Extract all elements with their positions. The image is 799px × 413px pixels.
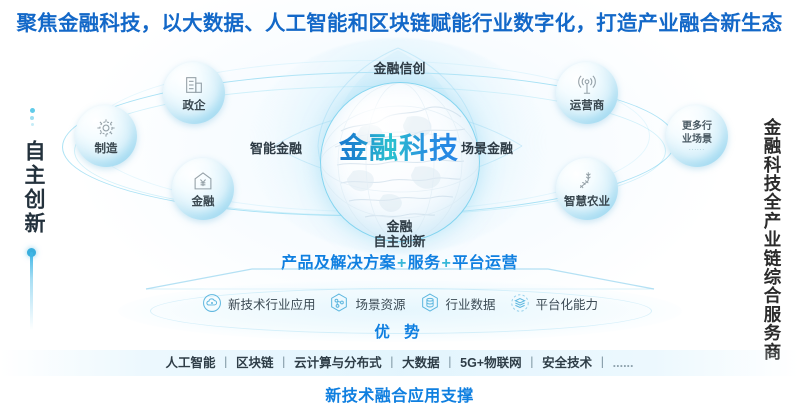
- bank-yen-icon: [192, 170, 214, 192]
- tech-separator: 丨: [216, 356, 237, 370]
- core-label-bottom: 金融 自主创新: [0, 219, 799, 249]
- node-label: 金融: [192, 193, 215, 209]
- node-label: 制造: [95, 140, 118, 156]
- core-label-top: 金融信创: [0, 58, 799, 77]
- feature-item[interactable]: 场景资源: [328, 292, 405, 314]
- feature-label: 行业数据: [446, 294, 496, 313]
- node-label: 智慧农业: [564, 193, 610, 209]
- node-label-line2: 业场景: [682, 134, 712, 146]
- tech-item: 区块链: [236, 356, 274, 370]
- left-decor-dots: [26, 108, 38, 134]
- tech-item: 人工智能: [166, 356, 216, 370]
- wheat-icon: [576, 170, 598, 192]
- signal-tower-icon: [576, 74, 598, 96]
- node-zhengqi[interactable]: 政企: [163, 62, 225, 124]
- core-title: 金融科技: [320, 125, 478, 167]
- tech-list: 人工智能丨区块链丨云计算与分布式丨大数据丨5G+物联网丨安全技术丨......: [0, 352, 799, 371]
- feature-label: 新技术行业应用: [228, 294, 316, 313]
- feature-item[interactable]: 平台化能力: [509, 292, 599, 314]
- node-more-scenarios[interactable]: 更多行 业场景 ......: [666, 105, 728, 167]
- cloud-circle-icon: [201, 292, 223, 314]
- feature-item[interactable]: 新技术行业应用: [201, 292, 316, 314]
- tech-separator: 丨: [592, 356, 613, 370]
- tech-item: 大数据: [402, 356, 440, 370]
- gear-icon: [95, 117, 117, 139]
- feature-label: 平台化能力: [536, 294, 599, 313]
- feature-row: 新技术行业应用 场景资源 行业数据: [0, 292, 799, 314]
- node-label: 运营商: [570, 97, 605, 113]
- feature-item[interactable]: 行业数据: [419, 292, 496, 314]
- core-label-right: 场景金融: [461, 138, 513, 157]
- node-jinrong[interactable]: 金融: [172, 158, 234, 220]
- core-label-bottom-line1: 金融: [386, 219, 412, 234]
- layers-stack-icon: [509, 292, 531, 314]
- core-label-bottom-line2: 自主创新: [373, 234, 425, 249]
- bottom-heading: 新技术融合应用支撑: [0, 382, 799, 406]
- tech-separator: 丨: [382, 356, 403, 370]
- tech-separator: 丨: [522, 356, 543, 370]
- node-label-line1: 更多行: [682, 121, 712, 133]
- tech-list-tail: ......: [613, 356, 634, 370]
- feature-label: 场景资源: [355, 294, 405, 313]
- node-yunying[interactable]: 运营商: [556, 62, 618, 124]
- tech-separator: 丨: [274, 356, 295, 370]
- node-zhizao[interactable]: 制造: [75, 105, 137, 167]
- tech-item: 云计算与分布式: [294, 356, 382, 370]
- infographic-canvas: 聚焦金融科技，以大数据、人工智能和区块链赋能行业数字化，打造产业融合新生态 自主…: [0, 0, 799, 413]
- core-label-left: 智能金融: [250, 138, 302, 157]
- tech-item: 5G+物联网: [460, 356, 521, 370]
- molecule-hexagon-icon: [328, 292, 350, 314]
- tech-item: 安全技术: [542, 356, 592, 370]
- node-nongye[interactable]: 智慧农业: [556, 158, 618, 220]
- tech-separator: 丨: [440, 356, 461, 370]
- page-title: 聚焦金融科技，以大数据、人工智能和区块链赋能行业数字化，打造产业融合新生态: [0, 6, 799, 36]
- advantage-title: 优 势: [0, 320, 799, 342]
- building-icon: [183, 74, 205, 96]
- node-label: 政企: [183, 97, 206, 113]
- node-more-dots: ......: [689, 146, 705, 152]
- database-icon: [419, 292, 441, 314]
